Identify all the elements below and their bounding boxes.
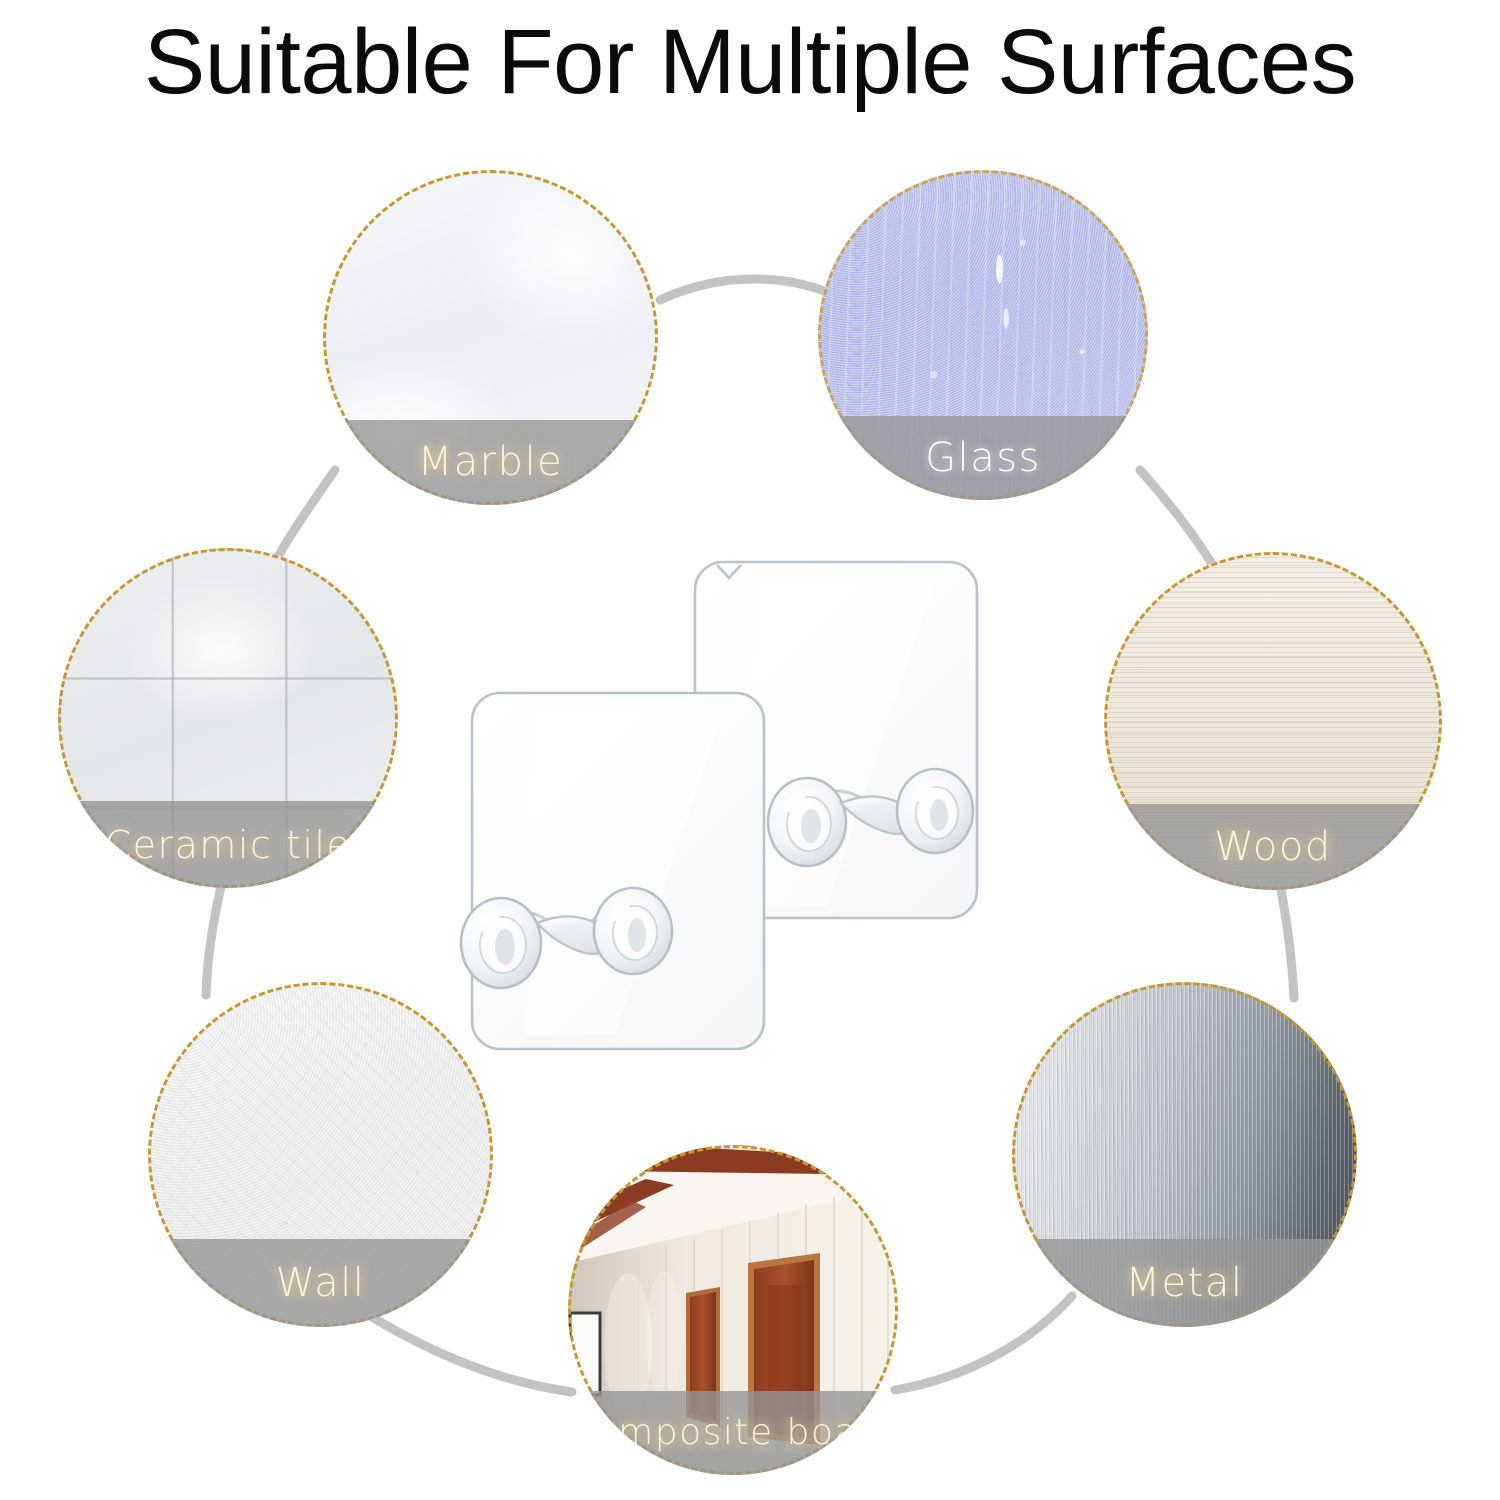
surface-circle-glass[interactable]: Glass [818,170,1148,500]
surface-label-glass: Glass [925,435,1041,481]
label-band-composite-board: Composite board [568,1391,898,1475]
adhesive-pad-front [472,693,764,1049]
connector-marble-glass [660,279,845,300]
surface-circle-ceramic-tile[interactable]: Ceramic tile [58,548,398,888]
page-title: Suitable For Multiple Surfaces [0,14,1500,111]
label-band-wood: Wood [1104,804,1442,890]
infographic-canvas: Suitable For Multiple Surfaces Marble Gl… [0,0,1500,1500]
surface-label-composite-board: Composite board [568,1412,898,1453]
surface-circle-metal[interactable]: Metal [1012,982,1357,1327]
surface-label-wood: Wood [1214,824,1332,870]
label-band-ceramic-tile: Ceramic tile [58,801,398,888]
surface-label-ceramic-tile: Ceramic tile [105,823,352,867]
surface-label-marble: Marble [418,439,564,485]
surface-circle-composite-board[interactable]: Composite board [568,1145,898,1475]
label-band-metal: Metal [1012,1239,1357,1327]
surface-circle-wood[interactable]: Wood [1104,552,1442,890]
connector-ceramic-wall [206,882,222,995]
surface-label-metal: Metal [1126,1260,1244,1306]
label-band-wall: Wall [148,1239,493,1327]
connector-wood-metal [1280,885,1294,998]
label-band-glass: Glass [818,416,1148,500]
product-illustration [455,535,1045,1075]
surface-circle-marble[interactable]: Marble [323,170,658,505]
label-band-marble: Marble [323,420,658,505]
surface-label-wall: Wall [276,1260,366,1306]
product-adhesive-hooks [455,535,1045,1075]
surface-circle-wall[interactable]: Wall [148,982,493,1327]
